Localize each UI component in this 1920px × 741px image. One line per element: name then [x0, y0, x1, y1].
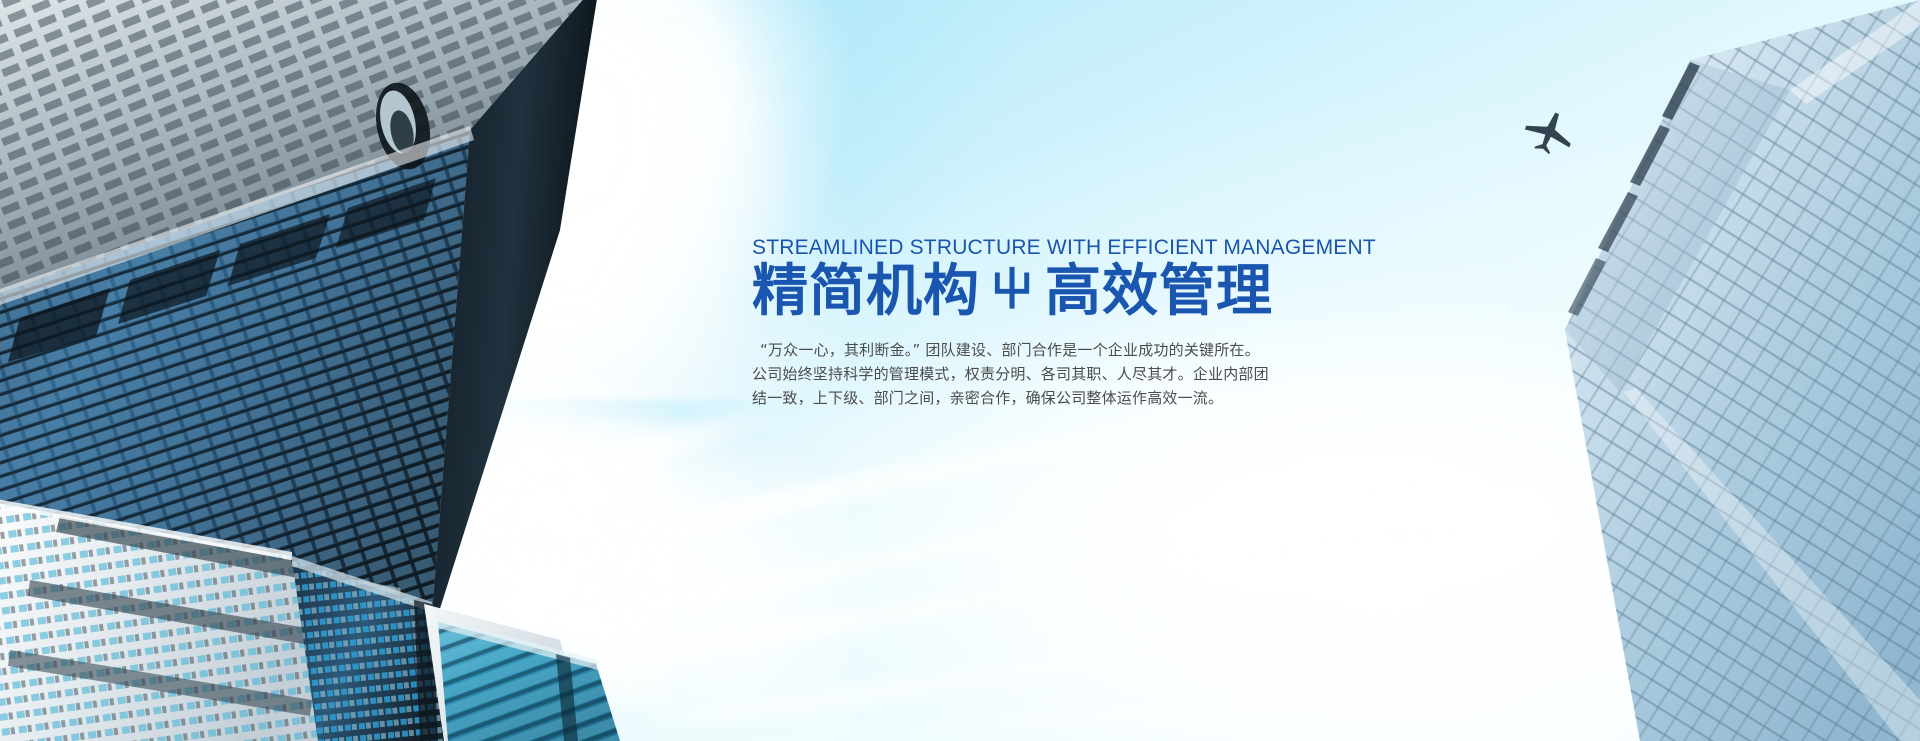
paragraph-line-3: 结一致，上下级、部门之间，亲密合作，确保公司整体运作高效一流。: [752, 386, 1282, 410]
description-paragraph: “万众一心，其利断金。” 团队建设、部门合作是一个企业成功的关键所在。 公司始终…: [752, 338, 1282, 411]
building-light-glass-tower-right: [1565, 0, 1920, 741]
paragraph-line-2: 公司始终坚持科学的管理模式，权责分明、各司其职、人尽其才。企业内部团: [752, 362, 1282, 386]
headline-left-text: 精简机构: [752, 263, 980, 322]
eyebrow-heading: STREAMLINED STRUCTURE WITH EFFICIENT MAN…: [752, 236, 1282, 259]
headline-separator-glyph: 屮: [990, 267, 1035, 313]
hero-banner: STREAMLINED STRUCTURE WITH EFFICIENT MAN…: [0, 0, 1920, 741]
page-title: 精简机构 屮 高效管理: [752, 263, 1282, 322]
banner-text-block: STREAMLINED STRUCTURE WITH EFFICIENT MAN…: [752, 236, 1282, 411]
paragraph-line-1: “万众一心，其利断金。” 团队建设、部门合作是一个企业成功的关键所在。: [752, 338, 1282, 362]
airplane-icon: [1522, 108, 1578, 154]
headline-right-text: 高效管理: [1045, 263, 1273, 322]
